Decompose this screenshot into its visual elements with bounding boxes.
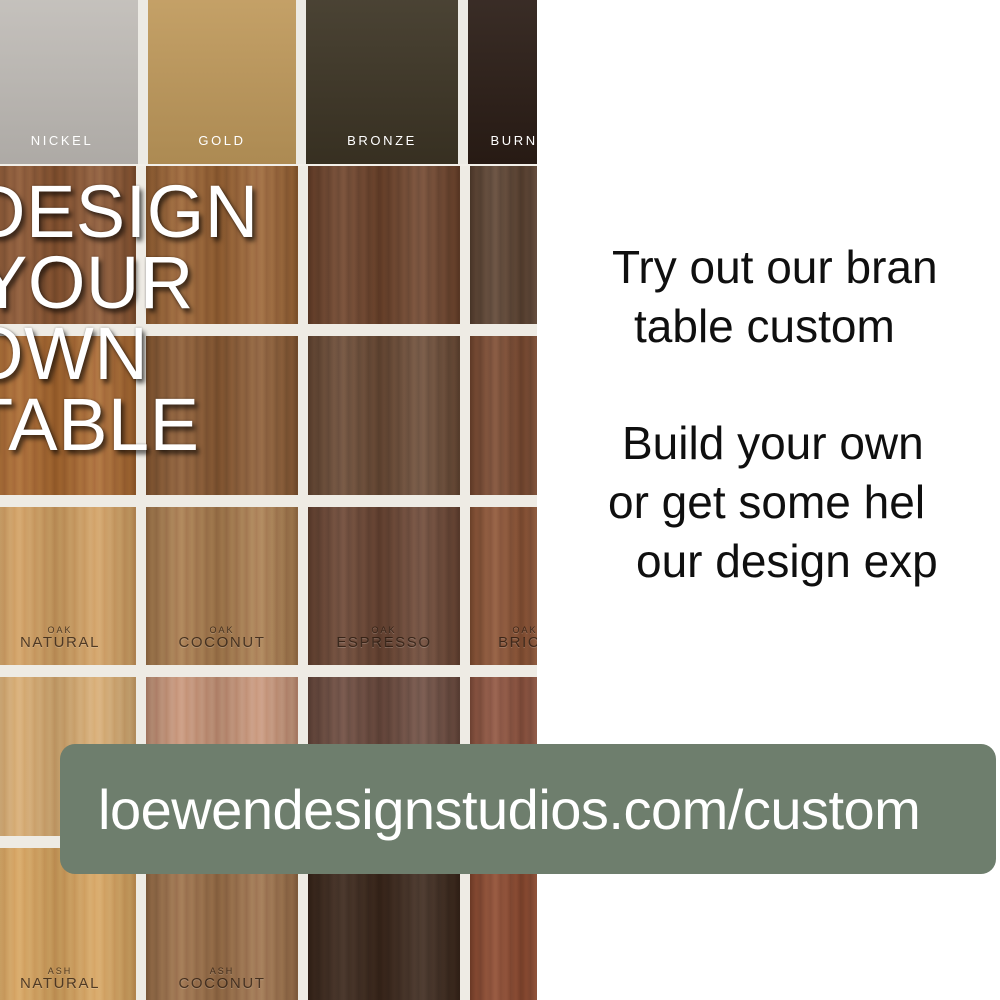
metal-swatch-label: GOLD: [198, 133, 245, 148]
wood-swatch: [470, 166, 537, 324]
body-copy: Try out our bran table custom Build your…: [612, 238, 1000, 590]
url-text: loewendesignstudios.com/custom: [98, 777, 920, 842]
wood-swatch: [308, 166, 460, 324]
metal-swatch-burnt-penny: BURNT P: [468, 0, 537, 164]
wood-swatch-label: OAKNATURAL: [0, 626, 136, 651]
copy-paragraph-1: Try out our bran table custom: [612, 238, 1000, 356]
wood-swatch-label: ASHNATURAL: [0, 967, 136, 992]
wood-swatch: [308, 336, 460, 494]
copy-paragraph-2: Build your own or get some hel our desig…: [612, 414, 1000, 591]
copy-line: or get some hel: [608, 473, 1000, 532]
wood-swatch-label: OAKBRICK: [470, 626, 537, 651]
copy-line: Build your own: [622, 414, 1000, 473]
wood-swatch: OAKCOCONUT: [146, 507, 298, 665]
copy-line: our design exp: [636, 532, 1000, 591]
wood-swatch: OAKNATURAL: [0, 507, 136, 665]
metal-swatch-label: NICKEL: [31, 133, 94, 148]
wood-swatch: [146, 166, 298, 324]
metal-swatch-nickel: NICKEL: [0, 0, 138, 164]
wood-swatch: [470, 336, 537, 494]
wood-swatch: [146, 336, 298, 494]
wood-swatch-name: COCONUT: [146, 976, 298, 992]
metal-swatch-row: NICKEL GOLD BRONZE BURNT P: [0, 0, 537, 164]
metal-swatch-gold: GOLD: [148, 0, 296, 164]
wood-swatch-name: COCONUT: [146, 635, 298, 651]
copy-line: Try out our bran: [612, 238, 1000, 297]
wood-swatch-label: OAKCOCONUT: [146, 626, 298, 651]
copy-line: table custom: [634, 297, 1000, 356]
wood-swatch: OAKESPRESSO: [308, 507, 460, 665]
metal-swatch-label: BRONZE: [347, 133, 417, 148]
wood-swatch-name: NATURAL: [0, 976, 136, 992]
metal-swatch-label: BURNT P: [490, 133, 537, 148]
wood-swatch-label: ASHCOCONUT: [146, 967, 298, 992]
url-banner[interactable]: loewendesignstudios.com/custom: [60, 744, 996, 874]
wood-swatch-name: ESPRESSO: [308, 635, 460, 651]
wood-swatch-label: OAKESPRESSO: [308, 626, 460, 651]
wood-swatch-name: NATURAL: [0, 635, 136, 651]
wood-swatch: OAKBRICK: [470, 507, 537, 665]
metal-swatch-bronze: BRONZE: [306, 0, 458, 164]
ad-creative: NICKEL GOLD BRONZE BURNT P OAKNATURALOAK…: [0, 0, 1000, 1000]
wood-swatch-grid: OAKNATURALOAKCOCONUTOAKESPRESSOOAKBRICKA…: [0, 166, 537, 1000]
wood-swatch-name: BRICK: [470, 635, 537, 651]
wood-swatch: [0, 336, 136, 494]
wood-swatch: [0, 166, 136, 324]
